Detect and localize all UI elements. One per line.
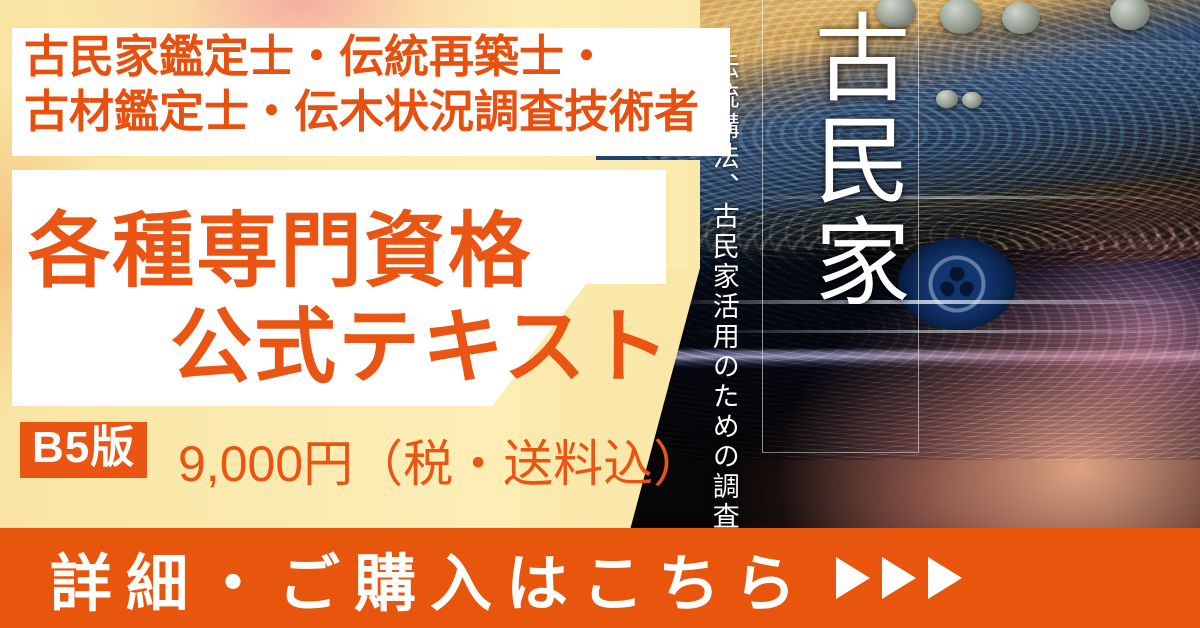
format-badge: B5版 bbox=[20, 422, 147, 478]
qualifications-headline: 古民家鑑定士・伝統再築士・ 古材鑑定士・伝木状況調査技術者 bbox=[24, 30, 724, 140]
triangle-right-icon bbox=[836, 557, 870, 599]
wave-highlight-line bbox=[690, 330, 1200, 333]
triangle-right-icon bbox=[928, 557, 962, 599]
promo-banner[interactable]: 伝統構法、古民家活用のための調査と再生の 古民家 古民家鑑定士・伝統再築士・ 古… bbox=[0, 0, 1200, 628]
cta-bar[interactable]: 詳細・ご購入はこちら bbox=[0, 528, 1200, 628]
qualifications-headline-line-1: 古民家鑑定士・伝統再築士・ bbox=[24, 30, 724, 85]
carved-knob-icon bbox=[962, 92, 982, 108]
wave-highlight-line bbox=[700, 196, 1200, 199]
cta-label: 詳細・ご購入はこちら bbox=[50, 533, 810, 623]
triangle-right-icon bbox=[882, 557, 916, 599]
carved-knob-icon bbox=[936, 90, 958, 108]
cover-frame-line-right bbox=[918, 0, 919, 452]
blue-medallion-ornament bbox=[898, 238, 1016, 330]
book-cover-title: 古民家 bbox=[790, 8, 910, 314]
qualifications-headline-line-2: 古材鑑定士・伝木状況調査技術者 bbox=[24, 85, 724, 140]
product-title-line-2: 公式テキスト bbox=[170, 280, 672, 399]
wave-highlight-line bbox=[660, 300, 1200, 304]
cta-arrows bbox=[836, 557, 962, 599]
price-label: 9,000円（税・送料込） bbox=[178, 424, 703, 496]
carved-knob-icon bbox=[1002, 2, 1040, 34]
cover-frame-line-left bbox=[762, 0, 763, 452]
cover-frame-line-bottom bbox=[762, 452, 919, 453]
